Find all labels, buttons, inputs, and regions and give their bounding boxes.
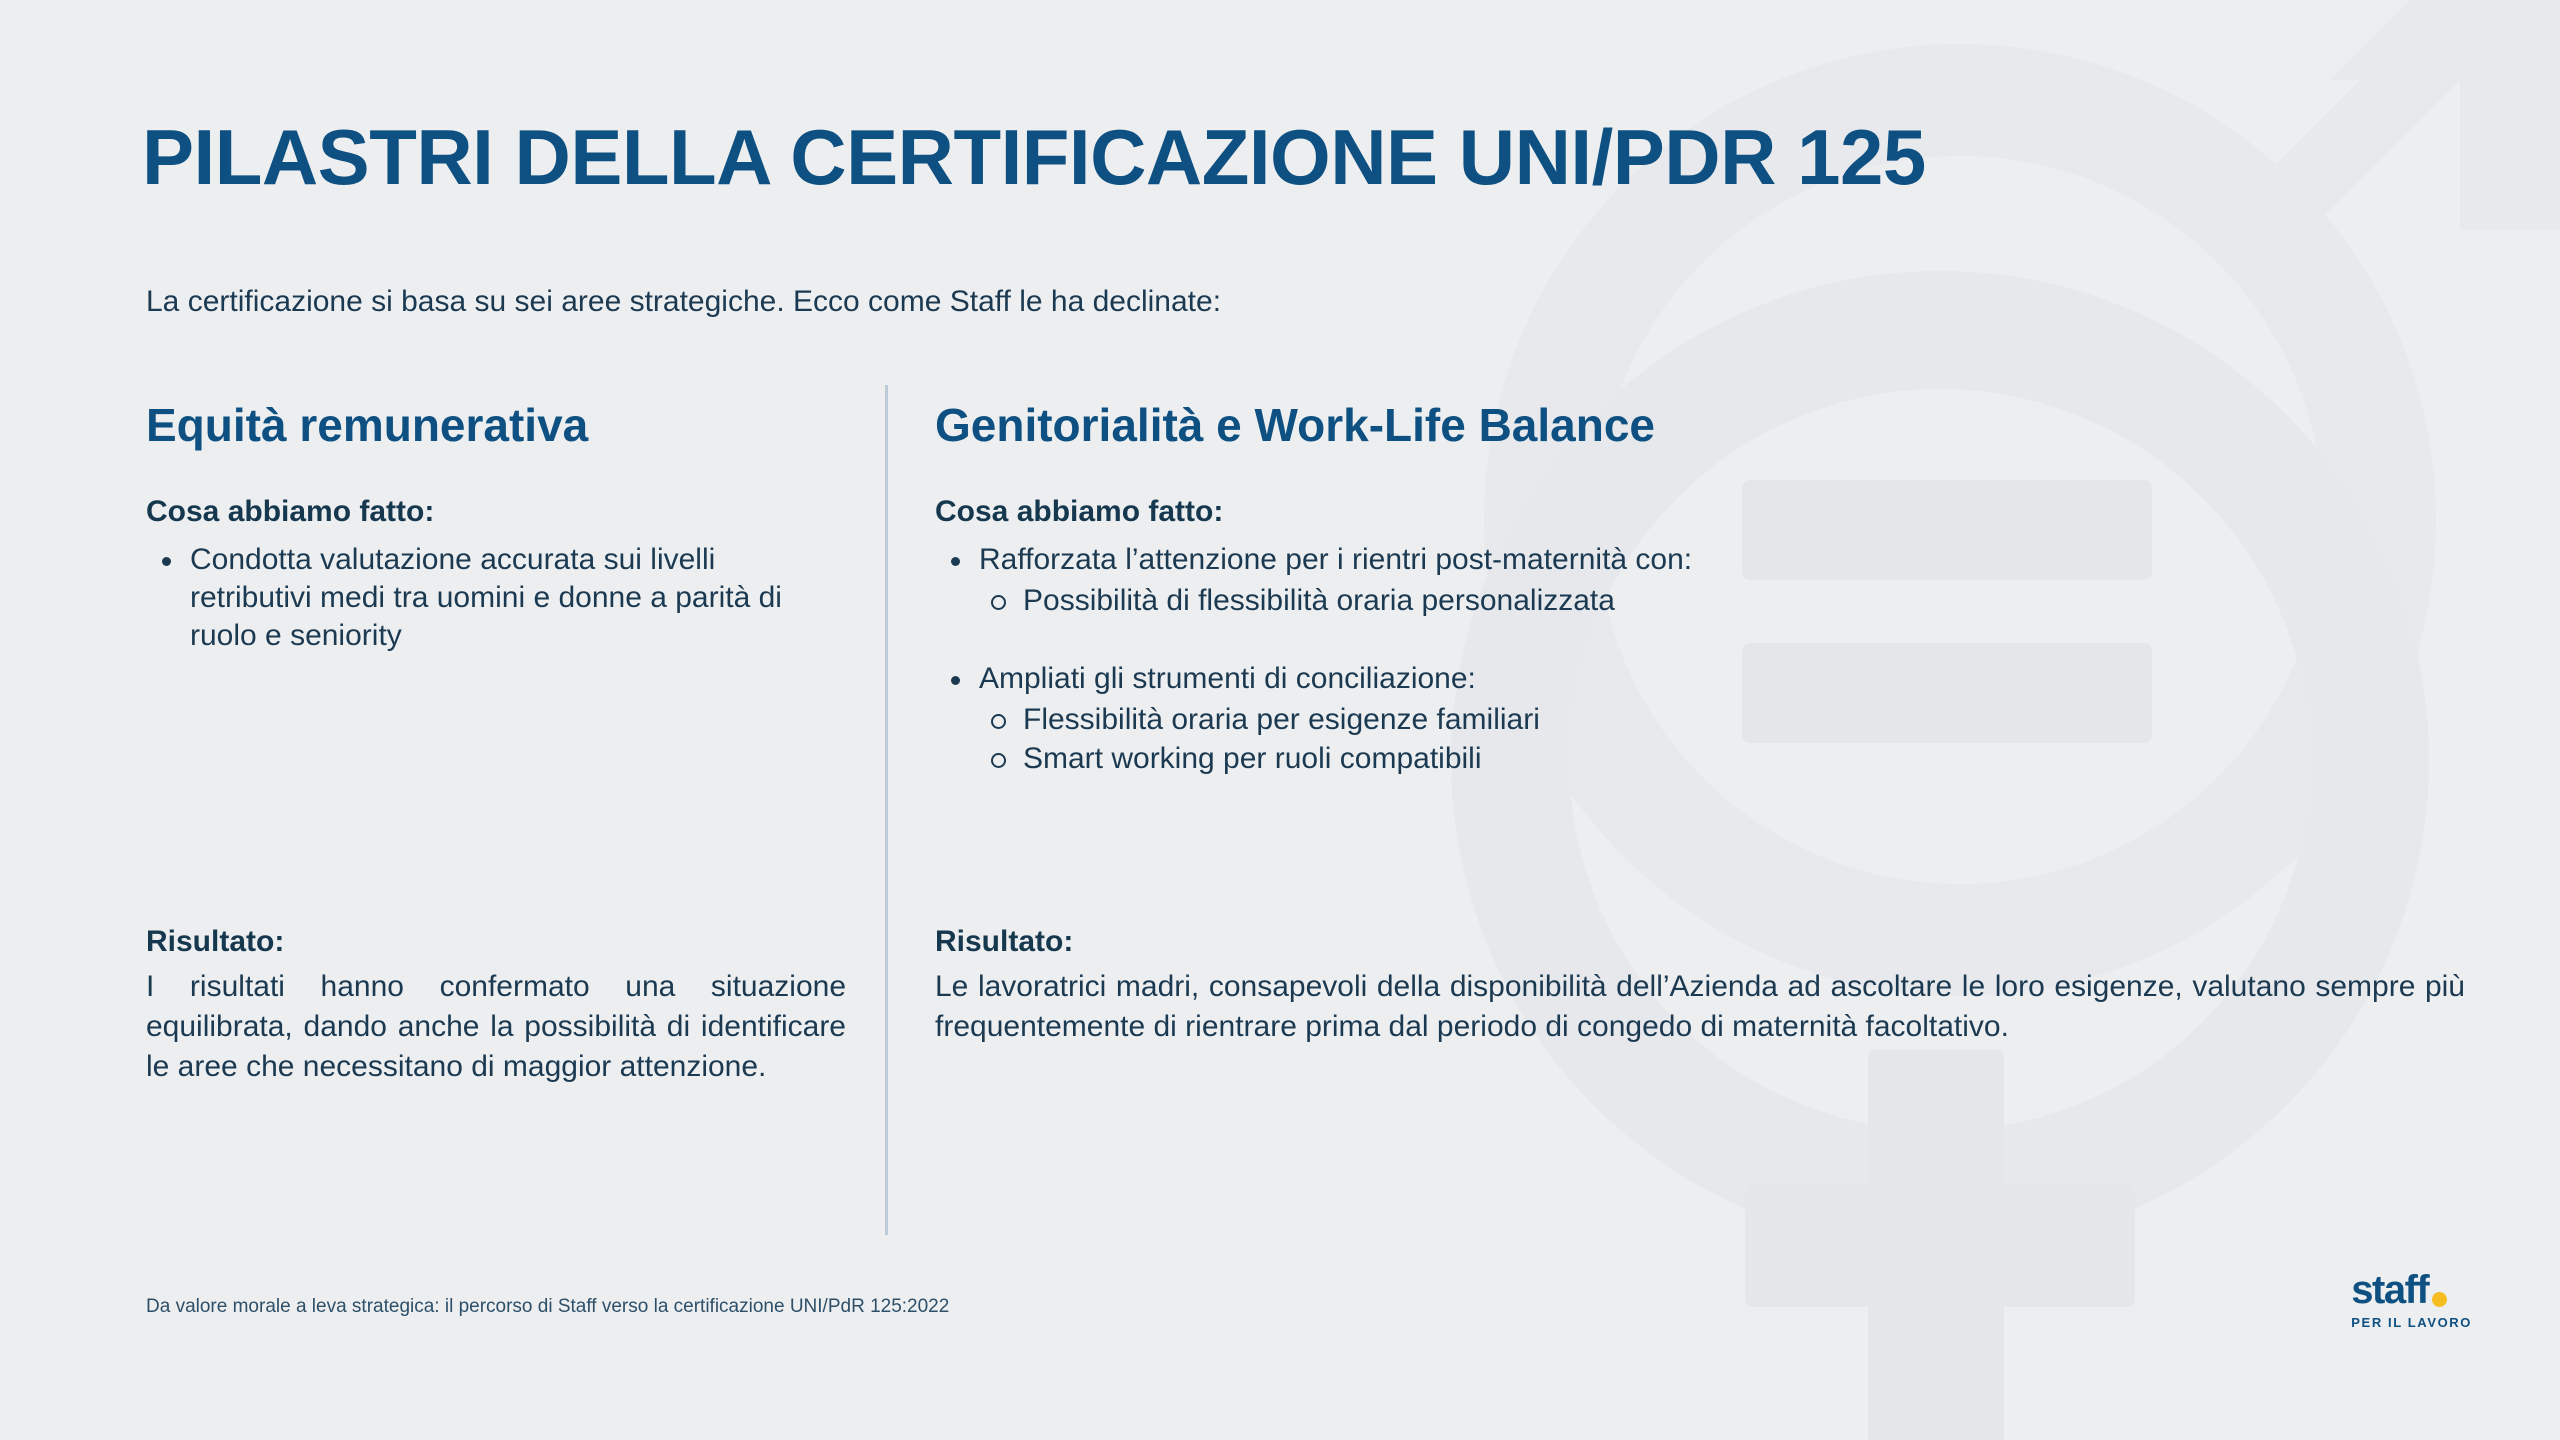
column-right-heading: Genitorialità e Work-Life Balance	[935, 400, 2415, 451]
sub-list-item: Smart working per ruoli compatibili	[979, 739, 2415, 778]
result-block-right: Risultato: Le lavoratrici madri, consape…	[935, 925, 2465, 1047]
column-divider	[885, 385, 888, 1235]
logo-word-text: staff	[2351, 1270, 2428, 1310]
result-text-left: I risultati hanno confermato una situazi…	[146, 967, 846, 1087]
result-block-left: Risultato: I risultati hanno confermato …	[146, 925, 846, 1087]
page-subtitle: La certificazione si basa su sei aree st…	[146, 285, 1221, 319]
footer-note: Da valore morale a leva strategica: il p…	[146, 1296, 949, 1318]
slide-root: PILASTRI DELLA CERTIFICAZIONE UNI/PDR 12…	[0, 0, 2560, 1440]
column-equita-remunerativa: Equità remunerativa Cosa abbiamo fatto: …	[146, 400, 826, 657]
result-label-right: Risultato:	[935, 925, 2465, 959]
bullet-text: Rafforzata l’attenzione per i rientri po…	[979, 543, 1692, 576]
result-label-left: Risultato:	[146, 925, 846, 959]
staff-logo: staff PER IL LAVORO	[2351, 1270, 2472, 1330]
page-title: PILASTRI DELLA CERTIFICAZIONE UNI/PDR 12…	[142, 118, 1926, 196]
sub-list-item: Flessibilità oraria per esigenze familia…	[979, 700, 2415, 739]
sub-bullet-list: Possibilità di flessibilità oraria perso…	[979, 581, 2415, 620]
column-right-bullet-list: Rafforzata l’attenzione per i rientri po…	[941, 541, 2415, 778]
list-item: Rafforzata l’attenzione per i rientri po…	[941, 541, 2415, 620]
column-left-subheading: Cosa abbiamo fatto:	[146, 495, 826, 529]
result-text-right: Le lavoratrici madri, consapevoli della …	[935, 967, 2465, 1047]
sub-bullet-list: Flessibilità oraria per esigenze familia…	[979, 700, 2415, 778]
sub-list-item: Possibilità di flessibilità oraria perso…	[979, 581, 2415, 620]
column-right-subheading: Cosa abbiamo fatto:	[935, 495, 2415, 529]
column-left-heading: Equità remunerativa	[146, 400, 826, 451]
list-item: Condotta valutazione accurata sui livell…	[152, 541, 826, 655]
list-item: Ampliati gli strumenti di conciliazione:…	[941, 660, 2415, 778]
logo-wordmark: staff	[2351, 1270, 2472, 1310]
logo-dot-icon	[2432, 1292, 2447, 1307]
column-left-bullet-list: Condotta valutazione accurata sui livell…	[152, 541, 826, 655]
column-genitorialita-work-life-balance: Genitorialità e Work-Life Balance Cosa a…	[935, 400, 2415, 780]
bullet-text: Ampliati gli strumenti di conciliazione:	[979, 662, 1476, 695]
bullet-text: Condotta valutazione accurata sui livell…	[190, 543, 782, 652]
logo-tagline: PER IL LAVORO	[2351, 1315, 2472, 1330]
